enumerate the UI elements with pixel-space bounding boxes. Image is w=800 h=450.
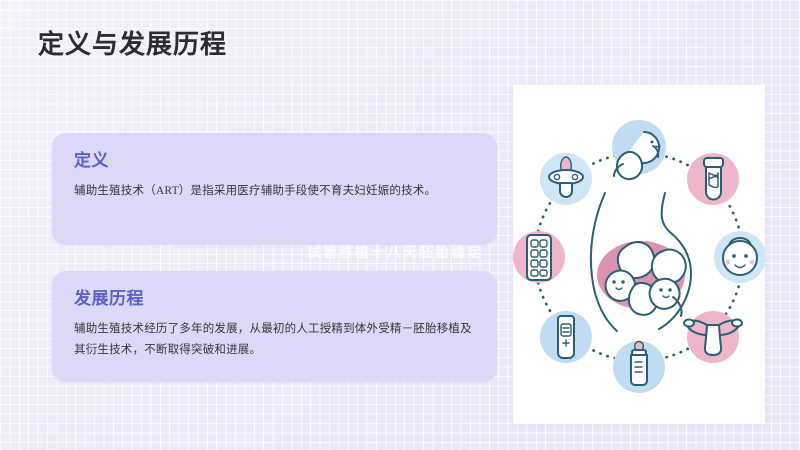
twin-b-eye-right [668,288,671,291]
baby-face-icon[interactable] [714,231,765,283]
twin-b-eye-left [659,288,662,291]
card-history-body: 辅助生殖技术经历了多年的发展，从最初的人工授精到体外受精－胚胎移植及其衍生技术，… [74,319,479,361]
pacifier-icon[interactable] [540,153,592,205]
watermark-text: 试管移植十八天胚胎稳定 [307,245,483,263]
illustration-panel: .ln{fill:none;stroke:#2b5e72;stroke-widt… [513,85,765,424]
card-history-heading: 发展历程 [74,288,144,310]
baby-eye-left [732,254,736,258]
card-definition-body: 辅助生殖技术（ART）是指采用医疗辅助手段使不育夫妇妊娠的技术。 [74,181,479,202]
pill-blister-pack-icon[interactable] [513,231,565,283]
slide-root: 定义与发展历程 定义 辅助生殖技术（ART）是指采用医疗辅助手段使不育夫妇妊娠的… [0,0,800,450]
dna-test-tube-icon[interactable] [687,153,739,205]
card-history[interactable]: 发展历程 辅助生殖技术经历了多年的发展，从最初的人工授精到体外受精－胚胎移植及其… [52,271,497,382]
page-title: 定义与发展历程 [38,28,227,62]
assisted-reproduction-infographic: .ln{fill:none;stroke:#2b5e72;stroke-widt… [513,85,765,424]
baby-bottle-icon[interactable] [613,341,665,393]
card-definition-heading: 定义 [74,150,109,172]
card-definition[interactable]: 定义 辅助生殖技术（ART）是指采用医疗辅助手段使不育夫妇妊娠的技术。 [52,133,497,245]
fetus-eye [651,141,654,144]
twin-a-eye-left [612,280,615,283]
baby-eye-right [744,254,748,258]
pregnancy-test-icon[interactable] [540,311,592,363]
twin-a-eye-right [621,280,624,283]
